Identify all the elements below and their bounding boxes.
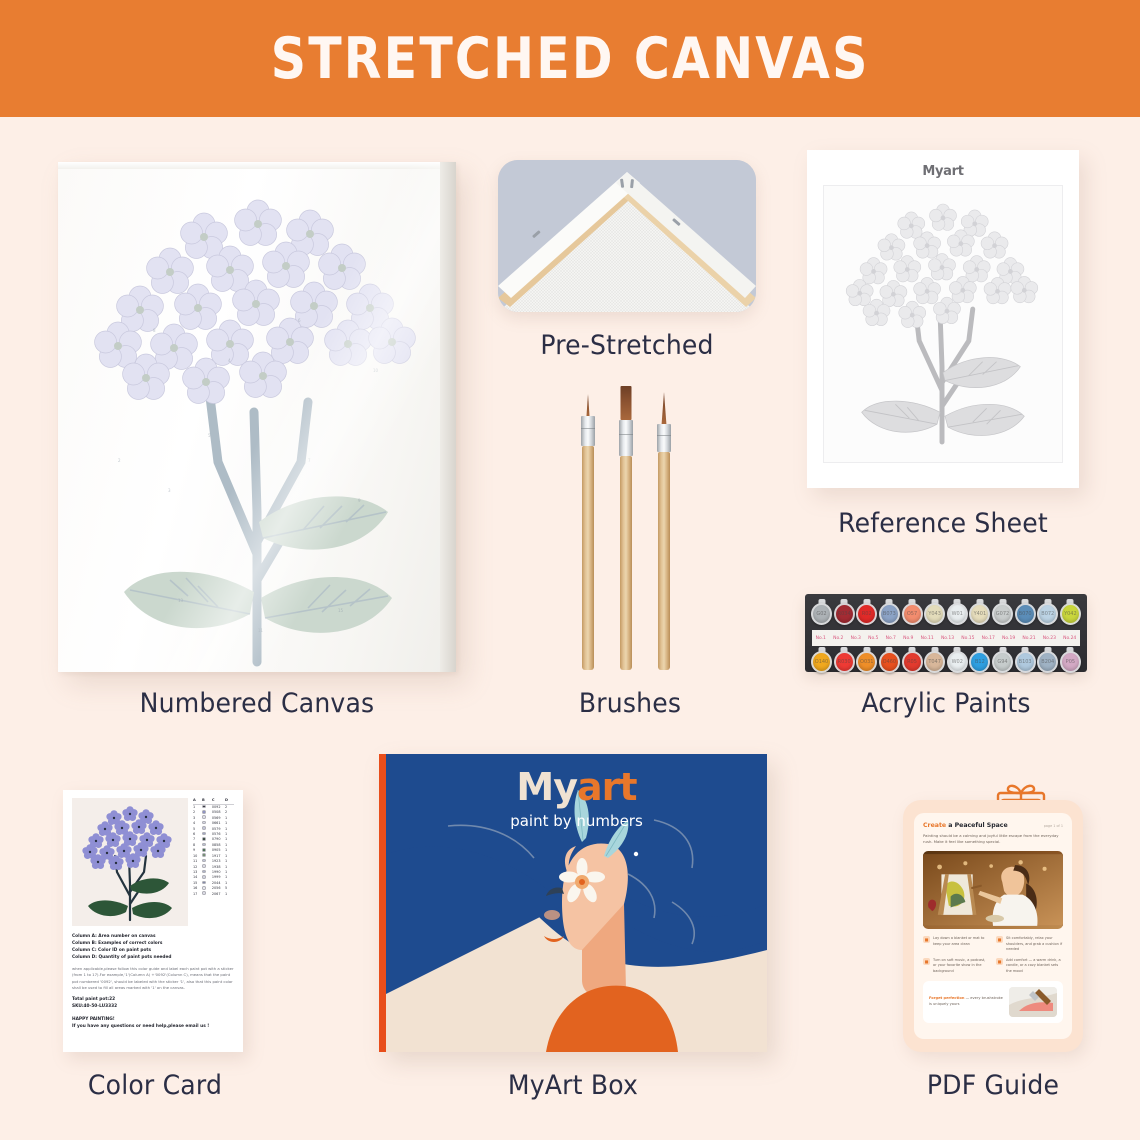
- cell-quantity: 1: [225, 816, 234, 821]
- color-card-row: 100922: [193, 805, 234, 810]
- paint-pot-id: B12: [975, 659, 985, 665]
- pdf-header: Create a Peaceful Space page 1 of 1: [923, 822, 1063, 829]
- paint-pot-body: Y042: [1060, 603, 1081, 625]
- paint-pot: G94: [992, 647, 1013, 677]
- canvas-corner-illustration: [498, 160, 756, 312]
- paint-pot-body: O460: [879, 651, 900, 673]
- cell-area-number: 11: [193, 859, 202, 864]
- paint-pot: W02: [947, 647, 968, 677]
- cell-color-id: 2067: [212, 892, 225, 897]
- paint-pot-body: Y401: [969, 603, 990, 625]
- svg-text:2: 2: [118, 458, 121, 463]
- cell-area-number: 17: [193, 892, 202, 897]
- paint-strip-code: No.11: [921, 636, 934, 641]
- paint-pot-id: R02: [862, 611, 872, 617]
- color-card-product: A B C D 10092220508230569140661150579160…: [63, 790, 243, 1052]
- color-card-row: 1620565: [193, 886, 234, 891]
- cell-quantity: 1: [225, 875, 234, 880]
- paint-pot-id: Y401: [974, 611, 987, 617]
- color-card-row: 1119231: [193, 859, 234, 864]
- paint-pot: R02: [856, 599, 877, 629]
- paint-pot: O460: [879, 647, 900, 677]
- pdf-tip: ■Lay down a blanket or mat to keep your …: [923, 936, 990, 952]
- paint-pot-body: O57: [902, 603, 923, 625]
- pdf-tip-text: Turn on soft music, a podcast, or your f…: [933, 958, 990, 974]
- paint-pot-id: T047: [928, 659, 941, 665]
- cell-color-id: 2056: [212, 886, 225, 891]
- cell-color-id: 1990: [212, 870, 225, 875]
- myart-box-product: Myart paint by numbers: [379, 754, 767, 1052]
- paint-pot-id: G94: [997, 659, 1007, 665]
- paint-pot-body: P05: [1060, 651, 1081, 673]
- paint-pot-body: B073: [879, 603, 900, 625]
- color-card-row: 1720671: [193, 891, 234, 896]
- cell-color-id: 0579: [212, 827, 225, 832]
- legend-line: Column A: Area number on canvas: [72, 933, 234, 940]
- paint-pot-body: R02: [856, 603, 877, 625]
- cell-color-id: 0790: [212, 837, 225, 842]
- cell-area-number: 7: [193, 837, 202, 842]
- color-card-row: 605761: [193, 832, 234, 837]
- paint-strip-code: No.19: [1002, 636, 1015, 641]
- pdf-photo: [923, 851, 1063, 929]
- svg-text:13: 13: [178, 598, 184, 603]
- color-card-row: 1019171: [193, 853, 234, 858]
- svg-text:11: 11: [258, 628, 264, 633]
- painting-woman-photo: [923, 851, 1063, 929]
- paint-pot: T047: [924, 647, 945, 677]
- paint-pot-id: G02: [816, 611, 826, 617]
- cell-color-id: 0569: [212, 816, 225, 821]
- color-card-row: 1319901: [193, 870, 234, 875]
- svg-text:10: 10: [373, 368, 379, 373]
- paint-strip-code: No.24: [1063, 636, 1076, 641]
- paint-pot: O57: [902, 599, 923, 629]
- col-c-header: C: [212, 798, 225, 803]
- caption-pre-stretched: Pre-Stretched: [507, 330, 747, 361]
- paint-pot-body: B070: [1015, 603, 1036, 625]
- pdf-tip: ■Turn on soft music, a podcast, or your …: [923, 958, 990, 974]
- color-card-row: 205082: [193, 810, 234, 815]
- cell-color-id: 1917: [212, 854, 225, 859]
- pdf-title: Create a Peaceful Space: [923, 822, 1008, 829]
- paint-pot: O031: [856, 647, 877, 677]
- paint-pot-id: O57: [907, 611, 917, 617]
- cell-quantity: 1: [225, 865, 234, 870]
- svg-text:8: 8: [153, 328, 156, 333]
- cell-quantity: 2: [225, 805, 234, 810]
- brush-flat: [620, 385, 632, 670]
- reference-sheet-frame: [823, 185, 1063, 463]
- paint-pot-id: P05: [1066, 659, 1075, 665]
- color-card-artwork: [72, 798, 188, 926]
- paint-pot-id: R034: [838, 611, 851, 617]
- cell-color-id: 0092: [212, 805, 225, 810]
- contact-line: If you have any questions or need help,p…: [72, 1024, 234, 1031]
- cell-area-number: 15: [193, 881, 202, 886]
- pdf-guide-product: Create a Peaceful Space page 1 of 1 Pain…: [903, 800, 1083, 1052]
- pdf-tip: ■Add comfort — a warm drink, a candle, o…: [996, 958, 1063, 974]
- color-card-row: 909051: [193, 848, 234, 853]
- cell-area-number: 3: [193, 816, 202, 821]
- color-card-row: 505791: [193, 826, 234, 831]
- pdf-tip: ■Sit comfortably, relax your shoulders, …: [996, 936, 1063, 952]
- reference-sheet-logo: Myart: [823, 164, 1063, 179]
- cell-quantity: 5: [225, 886, 234, 891]
- cell-area-number: 1: [193, 805, 202, 810]
- myart-box-logo: Myart: [386, 768, 767, 806]
- paint-label-strip: No.1No.2No.3No.5No.7No.9No.11No.13No.15N…: [812, 630, 1080, 646]
- paint-pot-id: R030: [838, 659, 851, 665]
- paint-pot-id: O460: [883, 659, 896, 665]
- paint-pot-id: W01: [952, 611, 963, 617]
- paint-pot-id: B103: [1019, 659, 1032, 665]
- paint-strip-code: No.5: [868, 636, 878, 641]
- paint-pot: R030: [834, 647, 855, 677]
- cell-color-id: 1923: [212, 859, 225, 864]
- paint-pot-body: R030: [834, 651, 855, 673]
- cell-quantity: 1: [225, 892, 234, 897]
- paint-pot-id: R05: [907, 659, 917, 665]
- cell-quantity: 1: [225, 832, 234, 837]
- col-d-header: D: [225, 798, 234, 803]
- caption-color-card: Color Card: [48, 1070, 262, 1101]
- paint-row-top: G02R034R02B073O57Y043W01Y401G072B070B072…: [809, 599, 1083, 629]
- logo-my: My: [516, 765, 577, 809]
- caption-acrylic-paints: Acrylic Paints: [815, 688, 1077, 719]
- happy-painting: HAPPY PAINTING!: [72, 1017, 234, 1024]
- caption-reference-sheet: Reference Sheet: [817, 508, 1070, 539]
- sku: SKU:40-50-LU3332: [72, 1004, 234, 1011]
- paint-pot-id: Y042: [1064, 611, 1077, 617]
- pdf-footer-callout: Forget perfection — every brushstroke is…: [923, 981, 1063, 1023]
- col-a-header: A: [193, 798, 202, 803]
- svg-text:15: 15: [338, 608, 344, 613]
- paint-strip-code: No.7: [886, 636, 896, 641]
- pdf-page-number: page 1 of 1: [1044, 824, 1063, 828]
- paint-pot: Y401: [969, 599, 990, 629]
- pdf-tip-text: Add comfort — a warm drink, a candle, or…: [1006, 958, 1063, 974]
- paint-pot: G072: [992, 599, 1013, 629]
- paint-pot: B12: [969, 647, 990, 677]
- canvas-top-edge: [58, 162, 456, 169]
- cell-area-number: 12: [193, 865, 202, 870]
- acrylic-paints-tray: G02R034R02B073O57Y043W01Y401G072B070B072…: [805, 594, 1087, 672]
- pre-stretched-photo: [498, 160, 756, 312]
- paint-strip-code: No.15: [961, 636, 974, 641]
- paint-pot-body: R034: [834, 603, 855, 625]
- paint-pot: B103: [1015, 647, 1036, 677]
- paint-pot: B204: [1037, 647, 1058, 677]
- cell-area-number: 8: [193, 843, 202, 848]
- paint-pot-body: B12: [969, 651, 990, 673]
- brush-closeup-icon: [1009, 987, 1057, 1017]
- paint-pot: B072: [1037, 599, 1058, 629]
- paint-pot: O140: [811, 647, 832, 677]
- paint-pot: Y042: [1060, 599, 1081, 629]
- music-icon: ■: [923, 958, 930, 965]
- paint-strip-code: No.3: [851, 636, 861, 641]
- cell-quantity: 1: [225, 859, 234, 864]
- color-card-happy: HAPPY PAINTING! If you have any question…: [72, 1017, 234, 1031]
- hydrangea-outline-artwork: [824, 186, 1062, 462]
- caption-pdf-guide: PDF Guide: [900, 1070, 1086, 1101]
- myart-box-subtitle: paint by numbers: [386, 812, 767, 830]
- cell-quantity: 2: [225, 810, 234, 815]
- cell-quantity: 1: [225, 837, 234, 842]
- paint-row-bottom: O140R030O031O460R05T047W02B12G94B103B204…: [809, 647, 1083, 677]
- brush-small: [582, 400, 594, 670]
- cell-quantity: 1: [225, 821, 234, 826]
- color-card-row: 808581: [193, 843, 234, 848]
- color-card-row: 406611: [193, 821, 234, 826]
- pdf-footer-highlight: Forget perfection: [929, 996, 964, 1000]
- paint-pot-id: B073: [883, 611, 896, 617]
- cell-area-number: 4: [193, 821, 202, 826]
- color-card-row: 305691: [193, 815, 234, 820]
- cell-area-number: 2: [193, 810, 202, 815]
- paint-pot-id: Y043: [928, 611, 941, 617]
- numbered-canvas-product: 235 7911 13154 6810: [58, 162, 456, 672]
- total-paint-pot: Total paint pot:22: [72, 997, 234, 1004]
- paint-pot: Y043: [924, 599, 945, 629]
- cell-quantity: 1: [225, 843, 234, 848]
- hydrangea-artwork: 235 7911 13154 6810: [58, 162, 456, 672]
- paint-pot-body: G02: [811, 603, 832, 625]
- brushes-product: [570, 385, 690, 670]
- cell-color-id: 0905: [212, 848, 225, 853]
- cell-color-id: 1938: [212, 865, 225, 870]
- logo-art: art: [577, 765, 637, 809]
- cell-quantity: 1: [225, 827, 234, 832]
- legend-line: Column C: Color ID on paint pots: [72, 947, 234, 954]
- paint-pot-body: G94: [992, 651, 1013, 673]
- desk-icon: ■: [923, 936, 930, 943]
- paint-strip-code: No.9: [903, 636, 913, 641]
- paint-pot-body: W02: [947, 651, 968, 673]
- brush-round: [658, 392, 670, 670]
- paint-strip-code: No.2: [833, 636, 843, 641]
- cell-quantity: 1: [225, 881, 234, 886]
- color-card-row: 707901: [193, 837, 234, 842]
- paint-pot: R034: [834, 599, 855, 629]
- hydrangea-color-artwork: [72, 798, 188, 926]
- reference-sheet-product: Myart: [807, 150, 1079, 488]
- cell-area-number: 10: [193, 854, 202, 859]
- cell-color-id: 0661: [212, 821, 225, 826]
- color-card-note: when applicable,please follow this color…: [72, 966, 234, 991]
- paint-pot: G02: [811, 599, 832, 629]
- chair-icon: ■: [996, 936, 1003, 943]
- cell-area-number: 6: [193, 832, 202, 837]
- paint-pot-body: O140: [811, 651, 832, 673]
- pdf-footer-image: [1009, 987, 1057, 1017]
- cell-color-id: 0858: [212, 843, 225, 848]
- caption-brushes: Brushes: [528, 688, 733, 719]
- pdf-tip-text: Sit comfortably, relax your shoulders, a…: [1006, 936, 1063, 952]
- col-b-header: B: [202, 798, 212, 803]
- color-card-table: A B C D 10092220508230569140661150579160…: [193, 798, 234, 926]
- paint-pot-body: B204: [1037, 651, 1058, 673]
- paint-pot-id: B204: [1041, 659, 1054, 665]
- paint-pot-body: W01: [947, 603, 968, 625]
- pdf-tips-list: ■Lay down a blanket or mat to keep your …: [923, 936, 1063, 974]
- pdf-title-highlight: Create: [923, 822, 946, 829]
- pdf-title-rest: a Peaceful Space: [946, 822, 1008, 829]
- canvas-face: 235 7911 13154 6810: [58, 162, 456, 672]
- legend-line: Column D: Quantity of paint pots needed: [72, 954, 234, 961]
- cell-color-id: 2044: [212, 881, 225, 886]
- pdf-tip-text: Lay down a blanket or mat to keep your a…: [933, 936, 990, 952]
- paint-pot-id: O140: [815, 659, 828, 665]
- paint-pot-body: B072: [1037, 603, 1058, 625]
- candle-icon: ■: [996, 958, 1003, 965]
- pdf-page: Create a Peaceful Space page 1 of 1 Pain…: [914, 813, 1072, 1039]
- paint-strip-code: No.21: [1022, 636, 1035, 641]
- cell-area-number: 13: [193, 870, 202, 875]
- canvas-side-edge: [440, 162, 456, 672]
- cell-quantity: 1: [225, 870, 234, 875]
- svg-text:3: 3: [168, 488, 171, 493]
- paint-pot-body: B103: [1015, 651, 1036, 673]
- paint-pot: W01: [947, 599, 968, 629]
- paint-pot-body: T047: [924, 651, 945, 673]
- paint-pot-body: G072: [992, 603, 1013, 625]
- paint-pot-id: G072: [996, 611, 1009, 617]
- cell-area-number: 16: [193, 886, 202, 891]
- paint-pot: R05: [902, 647, 923, 677]
- paint-pot: B070: [1015, 599, 1036, 629]
- paint-strip-code: No.13: [941, 636, 954, 641]
- cell-area-number: 9: [193, 848, 202, 853]
- paint-strip-code: No.17: [982, 636, 995, 641]
- page-header: STRETCHED CANVAS: [0, 0, 1140, 117]
- paint-pot-body: O031: [856, 651, 877, 673]
- caption-myart-box: MyArt Box: [393, 1070, 754, 1101]
- paint-pot: P05: [1060, 647, 1081, 677]
- color-card-row: 1520441: [193, 881, 234, 886]
- paint-pot-id: B070: [1019, 611, 1032, 617]
- cell-area-number: 14: [193, 875, 202, 880]
- paint-pot-body: R05: [902, 651, 923, 673]
- cell-swatch: [202, 891, 212, 896]
- page-title: STRETCHED CANVAS: [271, 26, 870, 92]
- caption-numbered-canvas: Numbered Canvas: [72, 688, 442, 719]
- color-card-table-header: A B C D: [193, 798, 234, 805]
- paint-strip-code: No.23: [1043, 636, 1056, 641]
- paint-pot-body: Y043: [924, 603, 945, 625]
- color-card-legend: Column A: Area number on canvasColumn B:…: [72, 933, 234, 961]
- color-card-meta: Total paint pot:22 SKU:40-50-LU3332: [72, 997, 234, 1011]
- cell-color-id: 1999: [212, 875, 225, 880]
- cell-quantity: 1: [225, 854, 234, 859]
- pdf-footer-text: Forget perfection — every brushstroke is…: [929, 996, 1003, 1007]
- pdf-body-text: Painting should be a calming and joyful …: [923, 833, 1063, 845]
- paint-pot-id: W02: [952, 659, 963, 665]
- cell-color-id: 0508: [212, 810, 225, 815]
- myart-box-face: Myart paint by numbers: [386, 754, 767, 1052]
- cell-quantity: 1: [225, 848, 234, 853]
- paint-pot: B073: [879, 599, 900, 629]
- paint-pot-id: B072: [1041, 611, 1054, 617]
- color-card-row: 1419991: [193, 875, 234, 880]
- paint-pot-id: O031: [860, 659, 873, 665]
- cell-area-number: 5: [193, 827, 202, 832]
- cell-color-id: 0576: [212, 832, 225, 837]
- color-card-row: 1219381: [193, 864, 234, 869]
- svg-text:7: 7: [308, 458, 311, 463]
- paint-strip-code: No.1: [816, 636, 826, 641]
- legend-line: Column B: Examples of correct colors: [72, 940, 234, 947]
